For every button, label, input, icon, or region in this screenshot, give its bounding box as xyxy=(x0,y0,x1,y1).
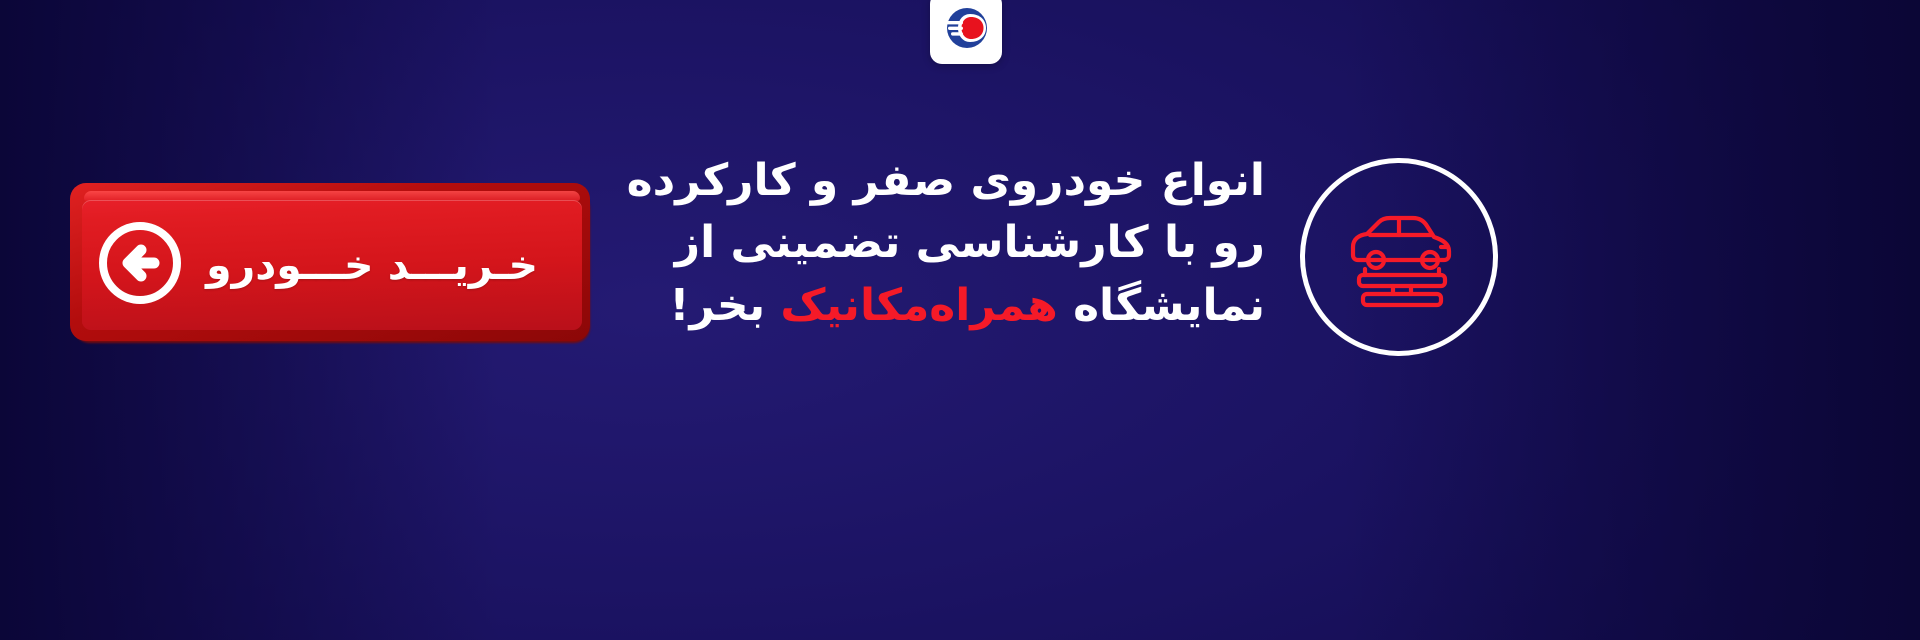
buy-car-button[interactable]: خـریـــد خـــودرو xyxy=(70,183,590,343)
headline-line-1: انواع خودروی صفر و کارکرده xyxy=(645,150,1265,212)
headline-line-3: نمایشگاه همراه‌مکانیک بخر! xyxy=(645,275,1265,337)
car-on-lift-icon xyxy=(1329,197,1469,317)
headline-line-3-white-start: نمایشگاه xyxy=(1058,280,1265,331)
buy-car-button-label: خـریـــد خـــودرو xyxy=(206,241,538,289)
headline: انواع خودروی صفر و کارکرده رو با کارشناس… xyxy=(645,150,1265,337)
headline-line-2: رو با کارشناسی تضمینی از xyxy=(645,212,1265,274)
promo-banner: خـریـــد خـــودرو انواع خودروی صفر و کار… xyxy=(0,0,1920,640)
circle-arrow-left-icon xyxy=(96,219,184,307)
brand-logo-icon xyxy=(940,2,992,54)
headline-line-3-white-end: بخر! xyxy=(669,280,780,331)
car-badge xyxy=(1300,158,1498,356)
headline-line-3-red: همراه‌مکانیک xyxy=(780,280,1057,331)
brand-logo[interactable] xyxy=(930,0,1002,64)
